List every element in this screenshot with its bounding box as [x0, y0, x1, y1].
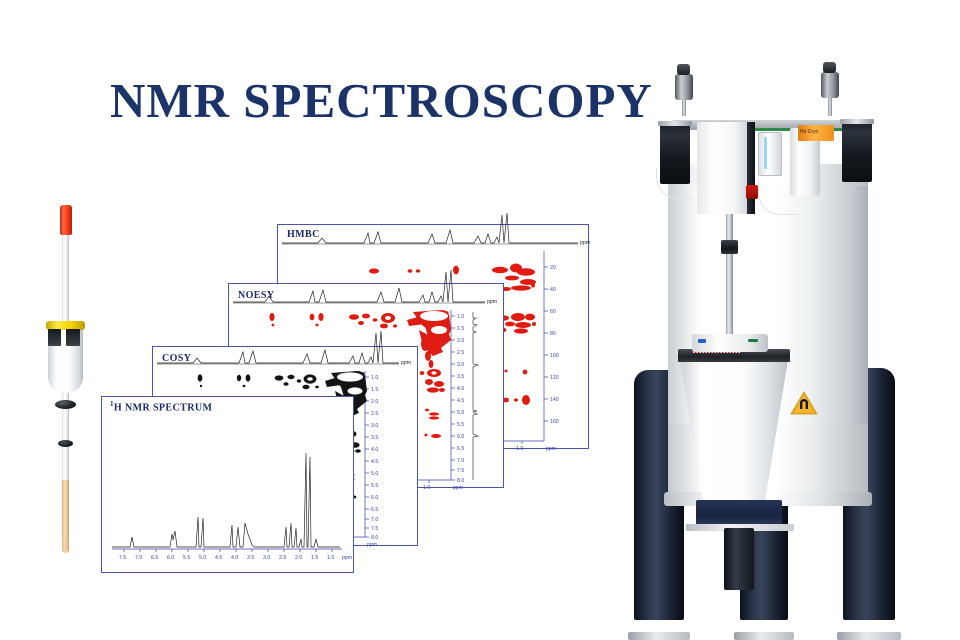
spinner-window-left-icon: [48, 329, 61, 346]
svg-text:2.5: 2.5: [279, 555, 286, 561]
svg-text:160: 160: [550, 419, 559, 425]
magnetic-field-warning-icon: [790, 390, 818, 416]
cryogen-port-right: [821, 72, 839, 98]
probe-stem: [724, 528, 754, 590]
svg-text:5.0: 5.0: [199, 555, 206, 561]
svg-text:140: 140: [550, 397, 559, 403]
svg-text:2.0: 2.0: [295, 555, 302, 561]
svg-text:5.5: 5.5: [371, 483, 378, 489]
probe-electronics-box: [696, 500, 782, 526]
probe-indicator-blue-icon: [698, 339, 706, 343]
svg-text:40: 40: [550, 287, 556, 293]
svg-text:2.5: 2.5: [371, 411, 378, 417]
magnet-foot-center: [734, 632, 794, 640]
svg-text:3.5: 3.5: [457, 374, 464, 380]
hmbc-y-ticks: 20 40 60 80 100 120 140 160: [544, 265, 559, 425]
panel-label-cosy: COSY: [162, 353, 191, 364]
svg-text:6.5: 6.5: [457, 446, 464, 452]
o-ring-icon: [55, 400, 76, 409]
svg-text:100: 100: [550, 353, 559, 359]
svg-text:8.0: 8.0: [371, 535, 378, 541]
panel-label-noesy: NOESY: [238, 290, 274, 301]
svg-text:1.5: 1.5: [311, 555, 318, 561]
svg-text:ppm: ppm: [487, 299, 497, 305]
svg-text:60: 60: [550, 309, 556, 315]
o-ring-lower-icon: [58, 440, 73, 447]
svg-text:ppm: ppm: [546, 446, 556, 452]
nmr-sample-tube: [38, 195, 90, 575]
tube-bottom-icon: [62, 540, 69, 553]
svg-text:6.0: 6.0: [371, 495, 378, 501]
svg-text:5.0: 5.0: [371, 471, 378, 477]
magnet-panel-edge: [747, 122, 755, 214]
svg-text:4.5: 4.5: [371, 459, 378, 465]
svg-text:7.0: 7.0: [457, 458, 464, 464]
svg-text:80: 80: [550, 331, 556, 337]
svg-text:1.0: 1.0: [516, 446, 523, 452]
svg-text:4.0: 4.0: [457, 386, 464, 392]
svg-text:5.5: 5.5: [183, 555, 190, 561]
poster-canvas: NMR SPECTROSCOPY ppm 20 40 60 80 100: [0, 0, 960, 640]
red-valve-icon: [746, 185, 758, 199]
panel-1h-spectrum[interactable]: 7.5 7.0 6.5 6.0 5.5 5.0 4.5 4.0 3.5 3.0 …: [101, 396, 354, 573]
pressure-gauge: [758, 132, 782, 176]
svg-text:4.0: 4.0: [371, 447, 378, 453]
svg-text:2.0: 2.0: [371, 399, 378, 405]
shim-tower-cap-right: [840, 119, 874, 124]
svg-text:7.5: 7.5: [371, 526, 378, 532]
magnet-foot-left: [628, 632, 690, 640]
svg-text:8.0: 8.0: [457, 478, 464, 484]
svg-text:1.0: 1.0: [423, 485, 430, 491]
probe-indicator-green-icon: [748, 339, 758, 342]
svg-text:120: 120: [550, 375, 559, 381]
svg-text:7.0: 7.0: [135, 555, 142, 561]
probe-cap: [692, 334, 768, 352]
noesy-y-ticks: 1.0 1.5 2.0 2.5 3.0 3.5 4.0 4.5 5.0 5.5 …: [451, 314, 464, 484]
svg-text:ppm: ppm: [580, 240, 590, 246]
page-title: NMR SPECTROSCOPY: [110, 72, 630, 129]
svg-text:3.0: 3.0: [371, 423, 378, 429]
svg-text:4.5: 4.5: [457, 398, 464, 404]
1h-x-ticks: 7.5 7.0 6.5 6.0 5.5 5.0 4.5 4.0 3.5 3.0 …: [119, 549, 352, 561]
svg-text:3.0: 3.0: [263, 555, 270, 561]
svg-text:7.0: 7.0: [371, 517, 378, 523]
tube-cap-icon: [60, 205, 72, 235]
svg-text:5.0: 5.0: [457, 410, 464, 416]
svg-text:1.0: 1.0: [371, 375, 378, 381]
magnet-foot-right: [837, 632, 901, 640]
svg-text:2.0: 2.0: [457, 338, 464, 344]
cryo-label-text: He Cryo: [798, 125, 834, 139]
cryogen-knob-right: [823, 62, 836, 73]
svg-text:ppm: ppm: [453, 485, 463, 491]
spinner-window-right-icon: [66, 329, 80, 346]
svg-text:6.5: 6.5: [151, 555, 158, 561]
svg-text:ppm: ppm: [342, 555, 352, 561]
magnet-front-panel: [697, 122, 749, 214]
sample-liquid-icon: [62, 480, 69, 545]
nmr-spectrometer: He Cryo: [600, 60, 960, 640]
cosy-y-ticks: 1.0 1.5 2.0 2.5 3.0 3.5 4.0 4.5 5.0 5.5 …: [365, 375, 378, 541]
svg-text:5.5: 5.5: [457, 422, 464, 428]
shim-tower-cap-left: [658, 121, 692, 126]
svg-text:7.5: 7.5: [457, 468, 464, 474]
cryogen-port-left: [675, 74, 693, 100]
cryo-label: He Cryo: [798, 125, 834, 141]
svg-text:6.0: 6.0: [167, 555, 174, 561]
svg-text:ppm: ppm: [401, 360, 411, 366]
svg-text:1.5: 1.5: [371, 387, 378, 393]
svg-text:6.0: 6.0: [457, 434, 464, 440]
1h-spectrum-plot: 7.5 7.0 6.5 6.0 5.5 5.0 4.5 4.0 3.5 3.0 …: [102, 397, 355, 574]
bore-collar-icon: [721, 240, 738, 254]
svg-text:20: 20: [550, 265, 556, 271]
bore-rod-icon: [726, 190, 733, 350]
svg-text:1.0: 1.0: [327, 555, 334, 561]
svg-text:6.5: 6.5: [371, 507, 378, 513]
transfer-hose-left-icon: [656, 168, 693, 199]
panel-label-1h: 1H NMR SPECTRUM: [110, 400, 212, 413]
svg-text:7.5: 7.5: [119, 555, 126, 561]
shim-tower-right: [842, 122, 872, 182]
svg-text:3.5: 3.5: [247, 555, 254, 561]
svg-text:1.0: 1.0: [457, 314, 464, 320]
svg-text:1.5: 1.5: [457, 326, 464, 332]
svg-text:4.5: 4.5: [215, 555, 222, 561]
svg-text:3.0: 3.0: [457, 362, 464, 368]
svg-text:ppm: ppm: [367, 542, 377, 548]
svg-text:2.5: 2.5: [457, 350, 464, 356]
panel-label-hmbc: HMBC: [287, 229, 320, 240]
cryogen-knob-left: [677, 64, 690, 75]
svg-text:4.0: 4.0: [231, 555, 238, 561]
svg-text:3.5: 3.5: [371, 435, 378, 441]
